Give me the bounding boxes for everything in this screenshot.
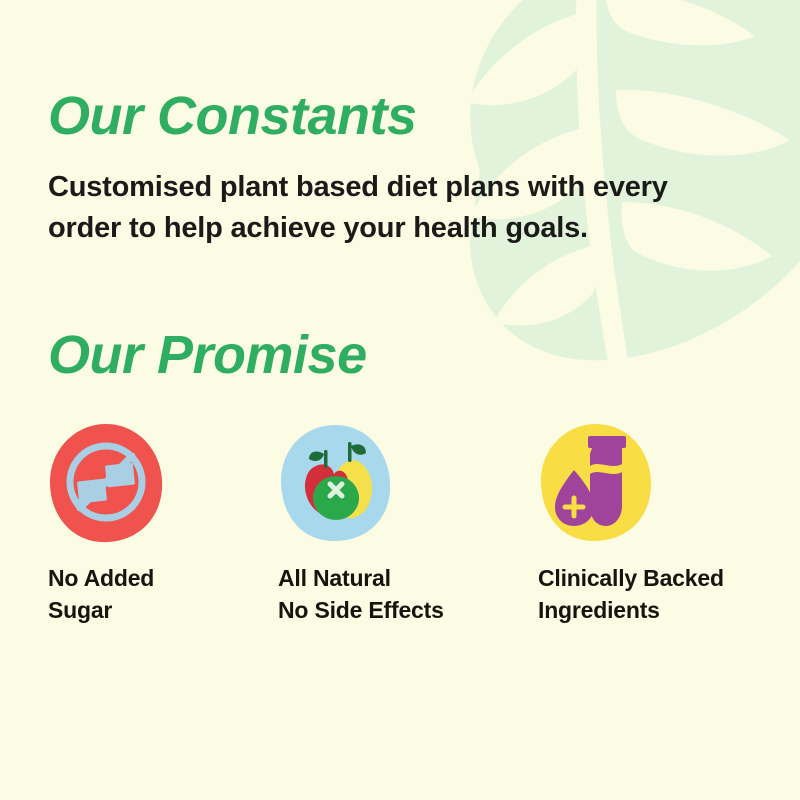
promise-card-all-natural: All Natural No Side Effects <box>278 422 528 627</box>
promise-card-label: No Added Sugar <box>48 544 298 627</box>
promise-card-clinically-backed: Clinically Backed Ingredients <box>538 422 788 627</box>
promo-page: Our Constants Customised plant based die… <box>0 0 800 800</box>
our-promise-heading: Our Promise <box>48 249 752 384</box>
no-added-sugar-icon <box>48 422 164 544</box>
promise-card-label: All Natural No Side Effects <box>278 544 528 627</box>
all-natural-fruits-icon <box>278 422 394 544</box>
promise-card-no-added-sugar: No Added Sugar <box>48 422 298 627</box>
our-constants-body-text: Customised plant based diet plans with e… <box>48 145 708 249</box>
promise-card-label: Clinically Backed Ingredients <box>538 544 788 627</box>
content-container: Our Constants Customised plant based die… <box>0 0 800 627</box>
our-constants-heading: Our Constants <box>48 0 752 145</box>
clinically-backed-test-tube-icon <box>538 422 654 544</box>
promise-card-list: No Added Sugar All N <box>48 384 752 627</box>
